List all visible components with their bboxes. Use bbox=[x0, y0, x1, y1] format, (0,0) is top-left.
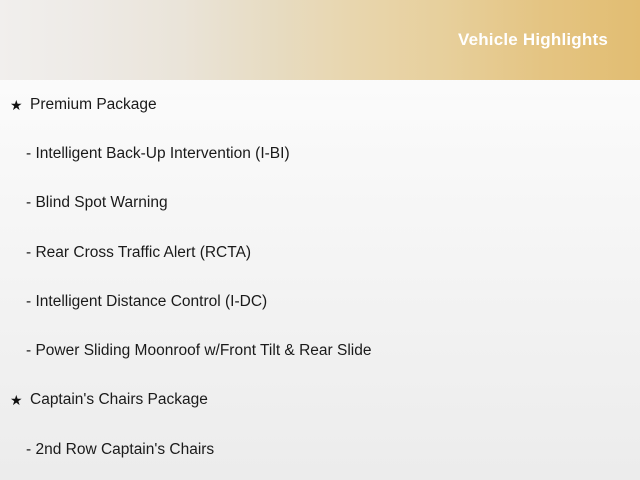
list-item-feature: - Intelligent Distance Control (I-DC) bbox=[0, 277, 640, 326]
list-item-feature: - Rear Cross Traffic Alert (RCTA) bbox=[0, 228, 640, 277]
list-item-feature: - 2nd Row Captain's Chairs bbox=[0, 425, 640, 474]
feature-label: - Blind Spot Warning bbox=[26, 194, 168, 212]
feature-label: - Rear Cross Traffic Alert (RCTA) bbox=[26, 244, 251, 262]
vehicle-highlights-page: Vehicle Highlights ★ Premium Package - I… bbox=[0, 0, 640, 480]
header-band: Vehicle Highlights bbox=[0, 0, 640, 80]
list-item-feature: - Blind Spot Warning bbox=[0, 179, 640, 228]
list-item-feature: - Power Sliding Moonroof w/Front Tilt & … bbox=[0, 326, 640, 375]
feature-label: - Power Sliding Moonroof w/Front Tilt & … bbox=[26, 342, 371, 360]
feature-label: - 2nd Row Captain's Chairs bbox=[26, 441, 214, 459]
feature-label: - Intelligent Distance Control (I-DC) bbox=[26, 293, 267, 311]
star-icon: ★ bbox=[10, 98, 30, 112]
package-label: Premium Package bbox=[30, 96, 157, 114]
list-item-package: ★ Premium Package bbox=[0, 80, 640, 129]
page-title: Vehicle Highlights bbox=[458, 30, 608, 50]
feature-label: - Intelligent Back-Up Intervention (I-BI… bbox=[26, 145, 290, 163]
list-item-feature: - Intelligent Back-Up Intervention (I-BI… bbox=[0, 129, 640, 178]
package-label: Captain's Chairs Package bbox=[30, 391, 208, 409]
highlights-list: ★ Premium Package - Intelligent Back-Up … bbox=[0, 80, 640, 474]
list-item-package: ★ Captain's Chairs Package bbox=[0, 376, 640, 425]
star-icon: ★ bbox=[10, 393, 30, 407]
